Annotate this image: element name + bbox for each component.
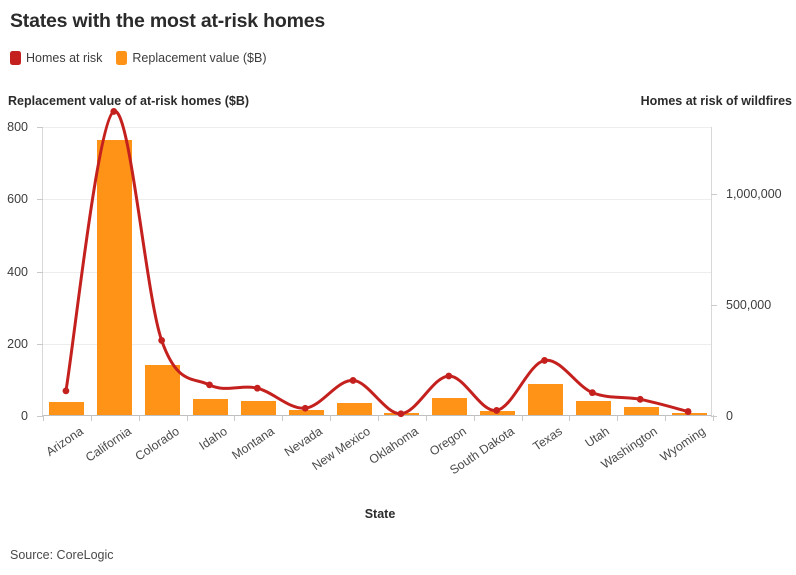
y-tick-mark-right xyxy=(711,416,717,417)
x-axis-title: State xyxy=(0,507,760,521)
y-tick-mark-left xyxy=(37,199,43,200)
y-tick-label-left: 800 xyxy=(7,120,28,134)
bar-utah[interactable] xyxy=(576,401,611,415)
y-tick-mark-left xyxy=(37,344,43,345)
gridline xyxy=(43,199,711,200)
bar-texas[interactable] xyxy=(528,384,563,415)
y-tick-mark-left xyxy=(37,272,43,273)
bar-south-dakota[interactable] xyxy=(480,411,515,415)
bar-montana[interactable] xyxy=(241,401,276,415)
bar-idaho[interactable] xyxy=(193,399,228,415)
y-tick-mark-right xyxy=(711,194,717,195)
y-tick-label-left: 600 xyxy=(7,192,28,206)
bar-california[interactable] xyxy=(97,140,132,415)
bar-oregon[interactable] xyxy=(432,398,467,415)
gridline xyxy=(43,127,711,128)
gridline xyxy=(43,416,711,417)
bar-oklahoma[interactable] xyxy=(384,413,419,415)
y-tick-label-right: 500,000 xyxy=(726,298,771,312)
y-axis-left-labels: 0200400600800 xyxy=(0,127,36,416)
y-tick-mark-left xyxy=(37,127,43,128)
y-tick-mark-right xyxy=(711,305,717,306)
line-point-california[interactable] xyxy=(110,108,117,115)
bar-colorado[interactable] xyxy=(145,365,180,415)
bar-wyoming[interactable] xyxy=(672,413,707,415)
bar-nevada[interactable] xyxy=(289,410,324,415)
bar-washington[interactable] xyxy=(624,407,659,415)
y-tick-label-left: 0 xyxy=(21,409,28,423)
source-note: Source: CoreLogic xyxy=(10,548,114,562)
bar-arizona[interactable] xyxy=(49,402,84,415)
plot-wrapper: 0200400600800 0500,0001,000,000 ArizonaC… xyxy=(0,0,796,575)
gridline xyxy=(43,272,711,273)
bar-new-mexico[interactable] xyxy=(337,403,372,415)
gridline xyxy=(43,344,711,345)
plot-area xyxy=(42,127,712,416)
x-tick-mark xyxy=(713,415,714,421)
y-tick-label-right: 1,000,000 xyxy=(726,187,782,201)
y-tick-label-left: 400 xyxy=(7,265,28,279)
x-axis-labels: ArizonaCaliforniaColoradoIdahoMontanaNev… xyxy=(42,420,712,490)
y-tick-label-right: 0 xyxy=(726,409,733,423)
y-axis-right-labels: 0500,0001,000,000 xyxy=(718,127,796,416)
y-tick-label-left: 200 xyxy=(7,337,28,351)
